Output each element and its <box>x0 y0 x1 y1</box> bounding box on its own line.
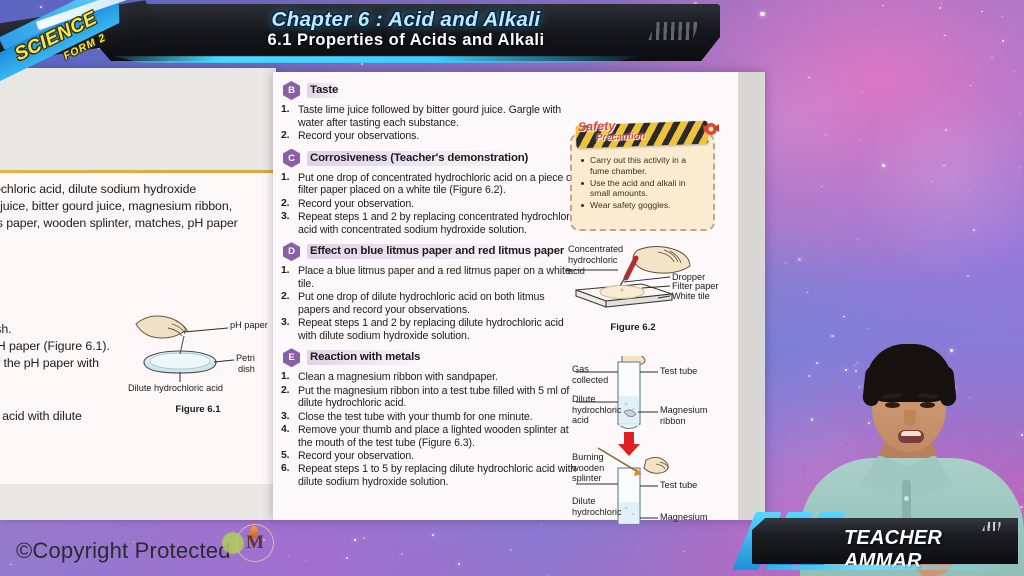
presenter-teeth <box>901 431 921 436</box>
section-e-steps: 1.Clean a magnesium ribbon with sandpape… <box>281 371 578 488</box>
left-line-3: us paper, wooden splinter, matches, pH p… <box>0 215 238 232</box>
left-line-5: lish. <box>0 321 110 338</box>
section-d-title: Effect on blue litmus paper and red litm… <box>307 244 569 259</box>
section-c-heading: C Corrosiveness (Teacher's demonstration… <box>283 149 578 168</box>
chapter-title: Chapter 6 : Acid and Alkali <box>92 8 720 32</box>
presenter-eye-left <box>885 402 900 408</box>
figure-6-3-label-dilute-acid-bottom: Dilute hydrochloric <box>572 496 616 517</box>
figure-6-1-label-ph-paper: pH paper <box>230 320 268 331</box>
monogram-letter: M <box>246 532 264 554</box>
list-item: 2.Put one drop of dilute hydrochloric ac… <box>281 291 578 316</box>
list-item: 4.Remove your thumb and place a lighted … <box>281 424 578 449</box>
section-b-steps: 1.Taste lime juice followed by bitter go… <box>281 104 578 143</box>
list-item: 1.Taste lime juice followed by bitter go… <box>281 104 578 129</box>
section-c-title: Corrosiveness (Teacher's demonstration) <box>307 151 533 166</box>
figure-6-3-label-burning-splinter: Burning wooden splinter <box>572 452 614 484</box>
list-item: 1.Clean a magnesium ribbon with sandpape… <box>281 371 578 384</box>
left-line-2: e juice, bitter gourd juice, magnesium r… <box>0 198 238 215</box>
left-page-gold-rule <box>0 170 276 173</box>
science-form2-badge: SCIENCE FORM 2 <box>0 0 175 74</box>
left-line-7: of the pH paper with <box>0 355 110 372</box>
list-item: 3.Repeat steps 1 and 2 by replacing conc… <box>281 211 578 236</box>
presenter-nose <box>904 410 916 426</box>
figure-6-2-caption: Figure 6.2 <box>580 322 686 333</box>
monogram-dot <box>222 532 244 554</box>
presenter-button-top <box>904 496 909 501</box>
safety-heading: Safety Precaution <box>578 118 699 144</box>
figure-6-2-label-filter-paper: Filter paper <box>672 281 718 292</box>
list-item: Carry out this activity in a fume chambe… <box>581 155 706 176</box>
hexagon-badge-b-icon: B <box>283 81 300 100</box>
figure-6-3: Gas collected Dilute hydrochloric acid T… <box>572 356 742 524</box>
right-page-steps-column: B Taste 1.Taste lime juice followed by b… <box>278 76 578 495</box>
list-item: Wear safety goggles. <box>581 200 706 211</box>
list-item: 1.Put one drop of concentrated hydrochlo… <box>281 172 578 197</box>
section-b-heading: B Taste <box>283 81 578 100</box>
list-item: 6.Repeat steps 1 to 5 by replacing dilut… <box>281 463 578 488</box>
figure-6-1-label-petri: Petri <box>236 353 255 364</box>
right-page-margin <box>738 72 765 520</box>
tape-knot-icon <box>701 119 721 139</box>
section-d-steps: 1.Place a blue litmus paper and a red li… <box>281 265 578 342</box>
list-item: 3.Repeat steps 1 and 2 by replacing dilu… <box>281 317 578 342</box>
left-line-8: ic acid with dilute <box>0 408 82 425</box>
figure-6-1-label-dish: dish <box>238 364 255 375</box>
video-stage: rochloric acid, dilute sodium hydroxide … <box>0 0 1024 576</box>
safety-items: Carry out this activity in a fume chambe… <box>581 155 706 211</box>
figure-6-1-caption: Figure 6.1 <box>138 404 258 415</box>
figure-6-2-label-concentrated-acid: Concentrated hydrochloric acid <box>568 244 624 277</box>
figure-6-3-label-dilute-acid-top: Dilute hydrochloric acid <box>572 394 616 426</box>
figure-6-2: Concentrated hydrochloric acid Dropper F… <box>566 244 726 336</box>
left-line-6: pH paper (Figure 6.1). <box>0 338 110 355</box>
figure-6-1-label-dilute-acid: Dilute hydrochloric acid <box>128 383 223 394</box>
banner-glow-bar <box>96 56 656 63</box>
section-e-title: Reaction with metals <box>307 350 425 365</box>
textbook-left-page[interactable]: rochloric acid, dilute sodium hydroxide … <box>0 68 276 520</box>
presenter-lower-third: TEACHER AMMAR <box>742 512 1018 570</box>
figure-6-3-label-test-tube-top: Test tube <box>660 366 697 377</box>
list-item: 2.Put the magnesium ribbon into a test t… <box>281 385 578 410</box>
figure-6-2-label-white-tile: White tile <box>672 291 710 302</box>
section-e-heading: E Reaction with metals <box>283 348 578 367</box>
section-c-steps: 1.Put one drop of concentrated hydrochlo… <box>281 172 578 237</box>
list-item: 3.Close the test tube with your thumb fo… <box>281 411 578 424</box>
namebar-underline <box>765 565 1017 570</box>
lesson-subtitle: 6.1 Properties of Acids and Alkali <box>92 31 720 50</box>
list-item: 5.Record your observation. <box>281 450 578 463</box>
figure-6-3-label-test-tube-bottom: Test tube <box>660 480 697 491</box>
figure-6-3-label-magnesium-bottom: Magnesium <box>660 512 708 523</box>
hexagon-badge-c-icon: C <box>283 149 300 168</box>
copyright-watermark: ©Copyright Protected <box>16 538 231 564</box>
section-d-heading: D Effect on blue litmus paper and red li… <box>283 242 578 261</box>
figure-6-3-label-gas-collected: Gas collected <box>572 364 614 385</box>
list-item: 2.Record your observation. <box>281 198 578 211</box>
section-b-title: Taste <box>307 83 343 98</box>
list-item: Use the acid and alkali in small amounts… <box>581 178 706 199</box>
list-item: 2.Record your observations. <box>281 130 578 143</box>
figure-6-3-label-magnesium-ribbon: Magnesium ribbon <box>660 405 718 426</box>
hexagon-badge-d-icon: D <box>283 242 300 261</box>
left-line-1: rochloric acid, dilute sodium hydroxide <box>0 181 238 198</box>
left-page-gray-header <box>0 68 276 170</box>
presenter-eye-right <box>920 402 935 408</box>
safety-precaution-box: Safety Precaution Carry out this activit… <box>570 133 715 231</box>
monogram-logo: M <box>222 522 274 566</box>
figure-6-1: pH paper Petri dish Dilute hydrochloric … <box>118 306 276 416</box>
left-page-gray-footer <box>0 484 276 520</box>
presenter-hair <box>866 344 952 402</box>
hexagon-badge-e-icon: E <box>283 348 300 367</box>
list-item: 1.Place a blue litmus paper and a red li… <box>281 265 578 290</box>
